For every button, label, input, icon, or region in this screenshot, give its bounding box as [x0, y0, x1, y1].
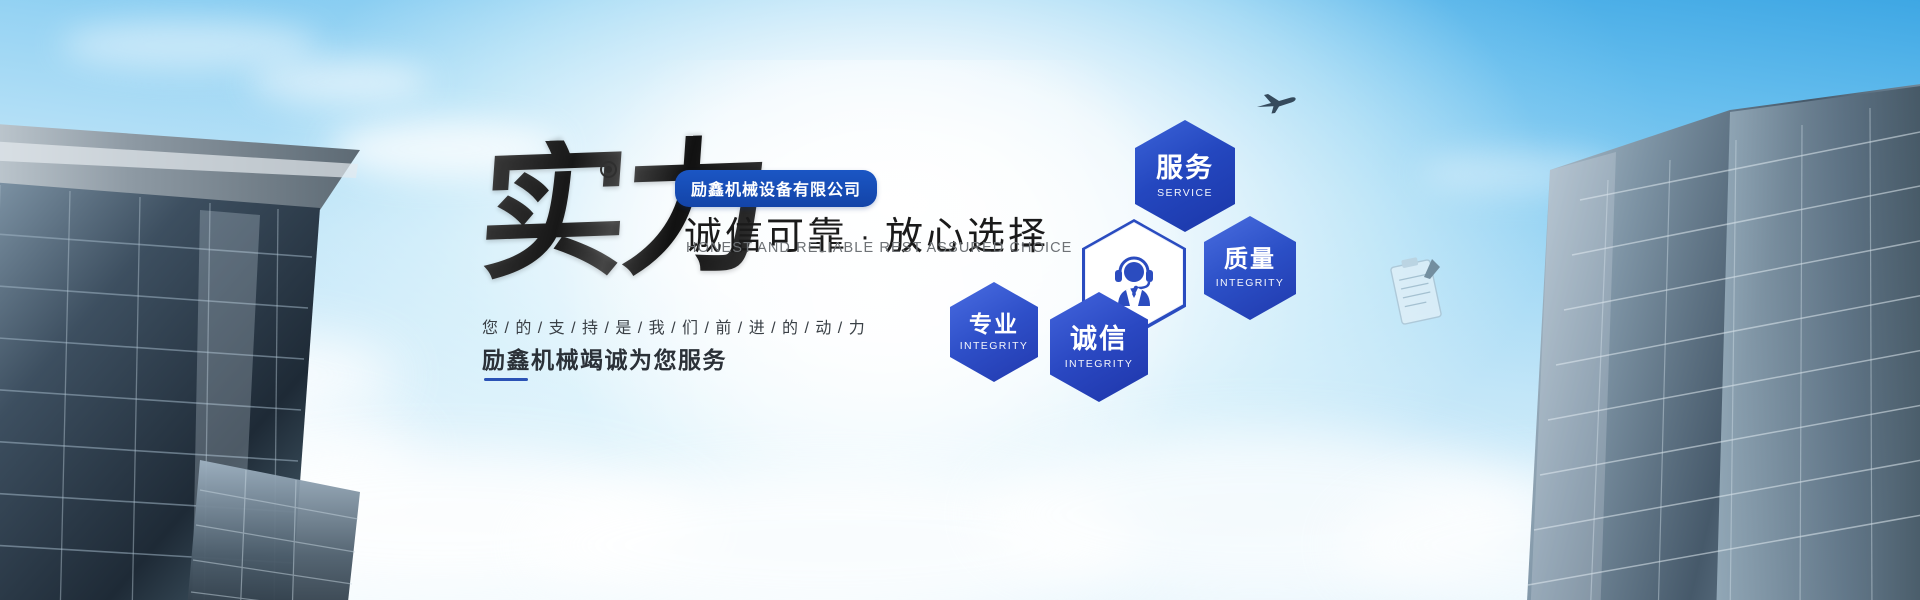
customer-service-agent-icon [1108, 248, 1160, 306]
hex-service-label-en: SERVICE [1157, 187, 1213, 199]
hex-service-label-cn: 服务 [1156, 153, 1214, 183]
cloud [0, 400, 420, 510]
cloud [1420, 150, 1620, 196]
company-name-badge: 励鑫机械设备有限公司 [675, 170, 877, 207]
cloud [60, 330, 400, 420]
cloud [1340, 470, 1860, 600]
right-building-photo [1430, 40, 1920, 600]
hex-professional-label-cn: 专业 [969, 312, 1019, 338]
hex-professional-label-en: INTEGRITY [960, 340, 1029, 352]
cloud [520, 470, 1140, 600]
hex-badge-service[interactable]: 服务 SERVICE [1135, 120, 1235, 232]
hex-quality-label-en: INTEGRITY [1216, 277, 1285, 289]
hex-quality-label-cn: 质量 [1224, 247, 1276, 274]
left-building-photo [0, 60, 460, 600]
hex-badge-quality[interactable]: 质量 INTEGRITY [1204, 216, 1296, 320]
hexagon-badge-cluster: 服务 SERVICE 质量 INTEGRITY [930, 110, 1330, 420]
cloud [250, 60, 430, 104]
accent-underline [484, 378, 528, 381]
support-tagline: 您 / 的 / 支 / 持 / 是 / 我 / 们 / 前 / 进 / 的 / … [482, 314, 866, 338]
promotional-banner: 实力 励鑫机械设备有限公司 诚信可靠·放心选择 HONEST AND RELIA… [0, 0, 1920, 600]
target-dot-icon [600, 161, 617, 178]
cloud [60, 20, 320, 70]
hex-integrity-label-cn: 诚信 [1070, 324, 1128, 354]
hex-integrity-label-en: INTEGRITY [1065, 358, 1134, 370]
clipboard-icon [1390, 255, 1446, 327]
hex-badge-professional[interactable]: 专业 INTEGRITY [950, 282, 1038, 382]
cloud [180, 450, 700, 590]
cloud [980, 430, 1540, 600]
service-tagline: 励鑫机械竭诚为您服务 [482, 341, 727, 375]
